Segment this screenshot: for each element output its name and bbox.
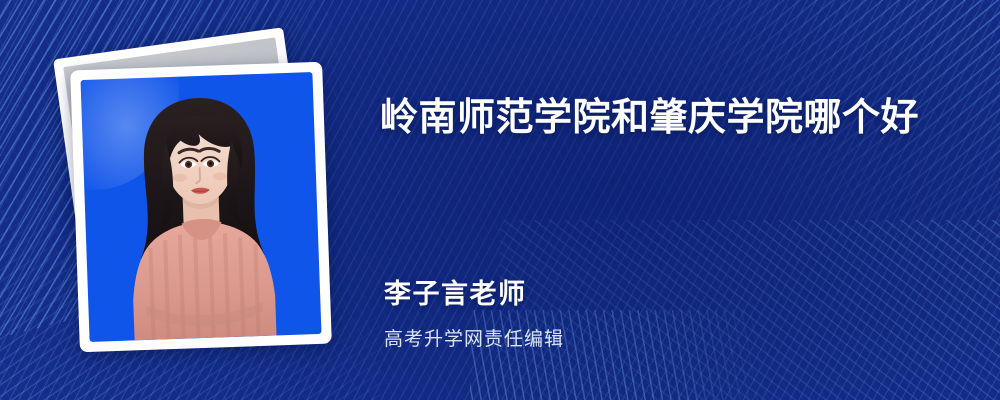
author-block: 李子言老师 高考升学网责任编辑: [384, 272, 964, 351]
banner-text-block: 岭南师范学院和肇庆学院哪个好: [380, 96, 960, 140]
photo-frame-front: [70, 62, 332, 353]
author-name: 李子言老师: [384, 272, 964, 311]
article-banner: 岭南师范学院和肇庆学院哪个好 李子言老师 高考升学网责任编辑: [0, 0, 1000, 400]
page-title: 岭南师范学院和肇庆学院哪个好: [380, 96, 960, 140]
author-photo: [80, 72, 321, 342]
author-role: 高考升学网责任编辑: [384, 324, 964, 351]
author-photo-stack: [52, 44, 342, 344]
author-portrait-illustration: [80, 72, 321, 342]
